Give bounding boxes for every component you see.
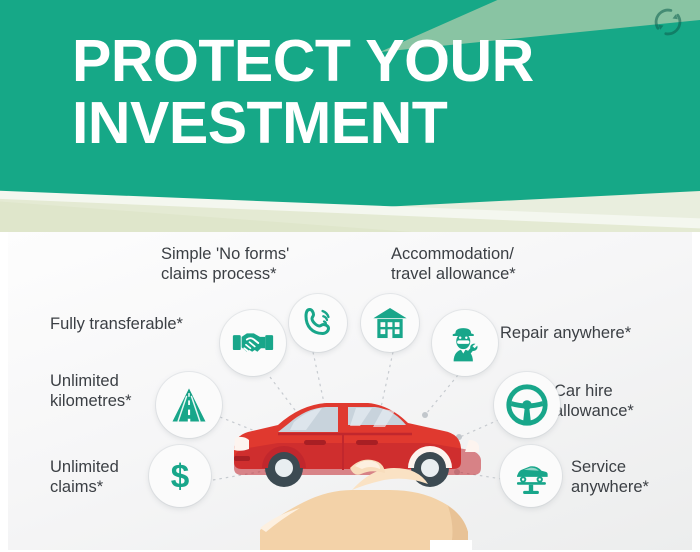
feature-label-claims-process: Simple 'No forms' claims process* [161,244,289,284]
building-icon [371,304,409,342]
road-icon [167,383,211,427]
feature-icon-unlimited-claims[interactable]: $ [149,445,211,507]
feature-icon-service-anywhere[interactable] [500,445,562,507]
infographic-page: PROTECT YOUR INVESTMENT [0,0,700,552]
car-on-hand-illustration [216,372,506,550]
page-title: PROTECT YOUR INVESTMENT [72,30,652,154]
feature-icon-claims-process[interactable] [289,294,347,352]
circular-refresh-logo-icon [654,8,682,36]
feature-label-fully-transferable: Fully transferable* [50,314,183,334]
feature-label-unlimited-claims: Unlimited claims* [50,457,119,497]
feature-icon-fully-transferable[interactable] [220,310,286,376]
feature-icon-unlimited-kilometres[interactable] [156,372,222,438]
steering-wheel-icon [504,382,550,428]
feature-label-accommodation: Accommodation/ travel allowance* [391,244,516,284]
feature-label-car-hire-allowance: Car hire allowance* [554,381,634,421]
features-panel: Fully transferable* Simple 'No forms' cl… [8,232,692,550]
phone-ring-icon [300,305,336,341]
feature-icon-accommodation[interactable] [361,294,419,352]
svg-text:$: $ [171,459,190,496]
handshake-icon [232,322,274,364]
mechanic-icon [444,322,486,364]
feature-label-repair-anywhere: Repair anywhere* [500,323,631,343]
feature-label-service-anywhere: Service anywhere* [571,457,649,497]
feature-label-unlimited-kilometres: Unlimited kilometres* [50,371,132,411]
dollar-sign-icon: $ [160,456,200,496]
car-on-lift-icon [510,455,552,497]
feature-icon-repair-anywhere[interactable] [432,310,498,376]
header-banner: PROTECT YOUR INVESTMENT [0,0,700,232]
red-sedan-and-hand-graphic [216,372,506,550]
